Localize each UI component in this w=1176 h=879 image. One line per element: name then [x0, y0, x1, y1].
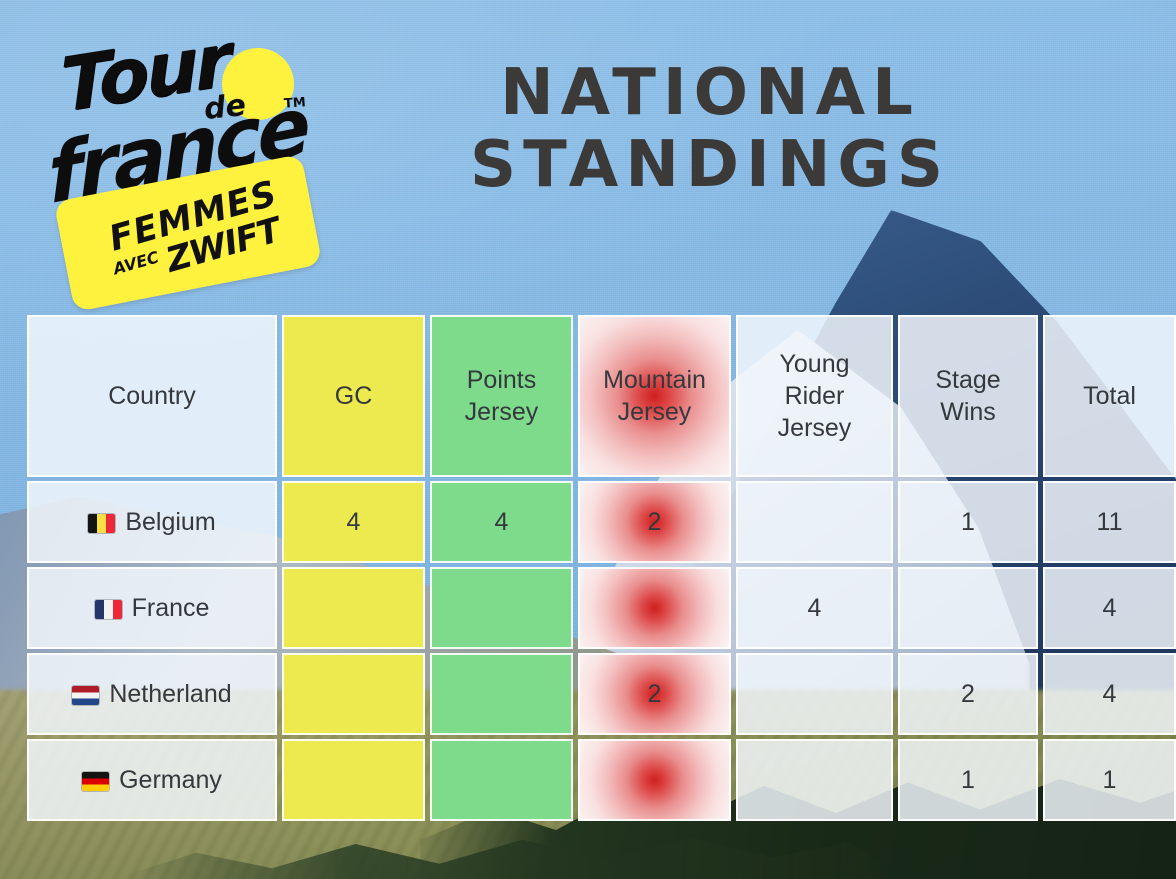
- national-standings-table: Country GC Points Jersey Mountain Jersey…: [22, 311, 1176, 825]
- country-cell: France: [27, 567, 277, 649]
- column-header-total: Total: [1043, 315, 1176, 477]
- country-name: Belgium: [125, 508, 215, 536]
- column-header-young-line-2: Rider: [785, 382, 845, 410]
- stage-wins-cell: 1: [898, 481, 1038, 563]
- total-cell: 11: [1043, 481, 1176, 563]
- flag-netherlands-icon: [72, 686, 99, 705]
- column-header-young-line-1: Young: [780, 350, 850, 378]
- total-cell: 1: [1043, 739, 1176, 821]
- young-rider-cell: [736, 739, 893, 821]
- gc-cell: [282, 653, 425, 735]
- page-title-line-2: STANDINGS: [340, 130, 1080, 202]
- page-title-line-1: NATIONAL: [340, 58, 1080, 130]
- gc-cell: [282, 567, 425, 649]
- gc-cell: [282, 739, 425, 821]
- mountain-cell: 2: [578, 481, 731, 563]
- flag-belgium-icon: [88, 514, 115, 533]
- column-header-young-line-3: Jersey: [778, 414, 852, 442]
- country-cell: Belgium: [27, 481, 277, 563]
- table-row: Germany 1 1: [27, 739, 1176, 821]
- mountain-cell: 2: [578, 653, 731, 735]
- young-rider-cell: 4: [736, 567, 893, 649]
- table-row: Belgium 4 4 2 1 11: [27, 481, 1176, 563]
- column-header-country-label: Country: [108, 382, 196, 410]
- country-name: France: [132, 594, 210, 622]
- stage-wins-cell: [898, 567, 1038, 649]
- column-header-gc: GC: [282, 315, 425, 477]
- table-body: Belgium 4 4 2 1 11 France 4 4: [27, 481, 1176, 821]
- points-cell: [430, 567, 573, 649]
- stage-wins-cell: 1: [898, 739, 1038, 821]
- column-header-total-label: Total: [1083, 382, 1136, 410]
- column-header-gc-label: GC: [335, 382, 373, 410]
- points-cell: 4: [430, 481, 573, 563]
- standings-infographic: Tour de TM france FEMMES AVEC ZWIFT NATI…: [0, 0, 1176, 879]
- flag-france-icon: [95, 600, 122, 619]
- gc-cell: 4: [282, 481, 425, 563]
- column-header-points-line-2: Jersey: [465, 398, 539, 426]
- column-header-points-jersey: Points Jersey: [430, 315, 573, 477]
- column-header-mountain-jersey: Mountain Jersey: [578, 315, 731, 477]
- column-header-country: Country: [27, 315, 277, 477]
- young-rider-cell: [736, 653, 893, 735]
- country-cell: Germany: [27, 739, 277, 821]
- points-cell: [430, 739, 573, 821]
- country-name: Germany: [119, 766, 222, 794]
- mountain-cell: [578, 739, 731, 821]
- total-cell: 4: [1043, 567, 1176, 649]
- column-header-mountain-line-1: Mountain: [603, 366, 706, 394]
- column-header-points-line-1: Points: [467, 366, 536, 394]
- country-cell: Netherland: [27, 653, 277, 735]
- table-header-row: Country GC Points Jersey Mountain Jersey…: [27, 315, 1176, 477]
- stage-wins-cell: 2: [898, 653, 1038, 735]
- page-title: NATIONAL STANDINGS: [340, 58, 1080, 201]
- column-header-stage-line-1: Stage: [935, 366, 1000, 394]
- column-header-stage-line-2: Wins: [940, 398, 996, 426]
- column-header-stage-wins: Stage Wins: [898, 315, 1038, 477]
- column-header-young-rider-jersey: Young Rider Jersey: [736, 315, 893, 477]
- table-row: Netherland 2 2 4: [27, 653, 1176, 735]
- column-header-mountain-line-2: Jersey: [618, 398, 692, 426]
- mountain-cell: [578, 567, 731, 649]
- young-rider-cell: [736, 481, 893, 563]
- tour-de-france-femmes-logo: Tour de TM france FEMMES AVEC ZWIFT: [44, 12, 324, 307]
- table-row: France 4 4: [27, 567, 1176, 649]
- total-cell: 4: [1043, 653, 1176, 735]
- points-cell: [430, 653, 573, 735]
- flag-germany-icon: [82, 772, 109, 791]
- country-name: Netherland: [109, 680, 231, 708]
